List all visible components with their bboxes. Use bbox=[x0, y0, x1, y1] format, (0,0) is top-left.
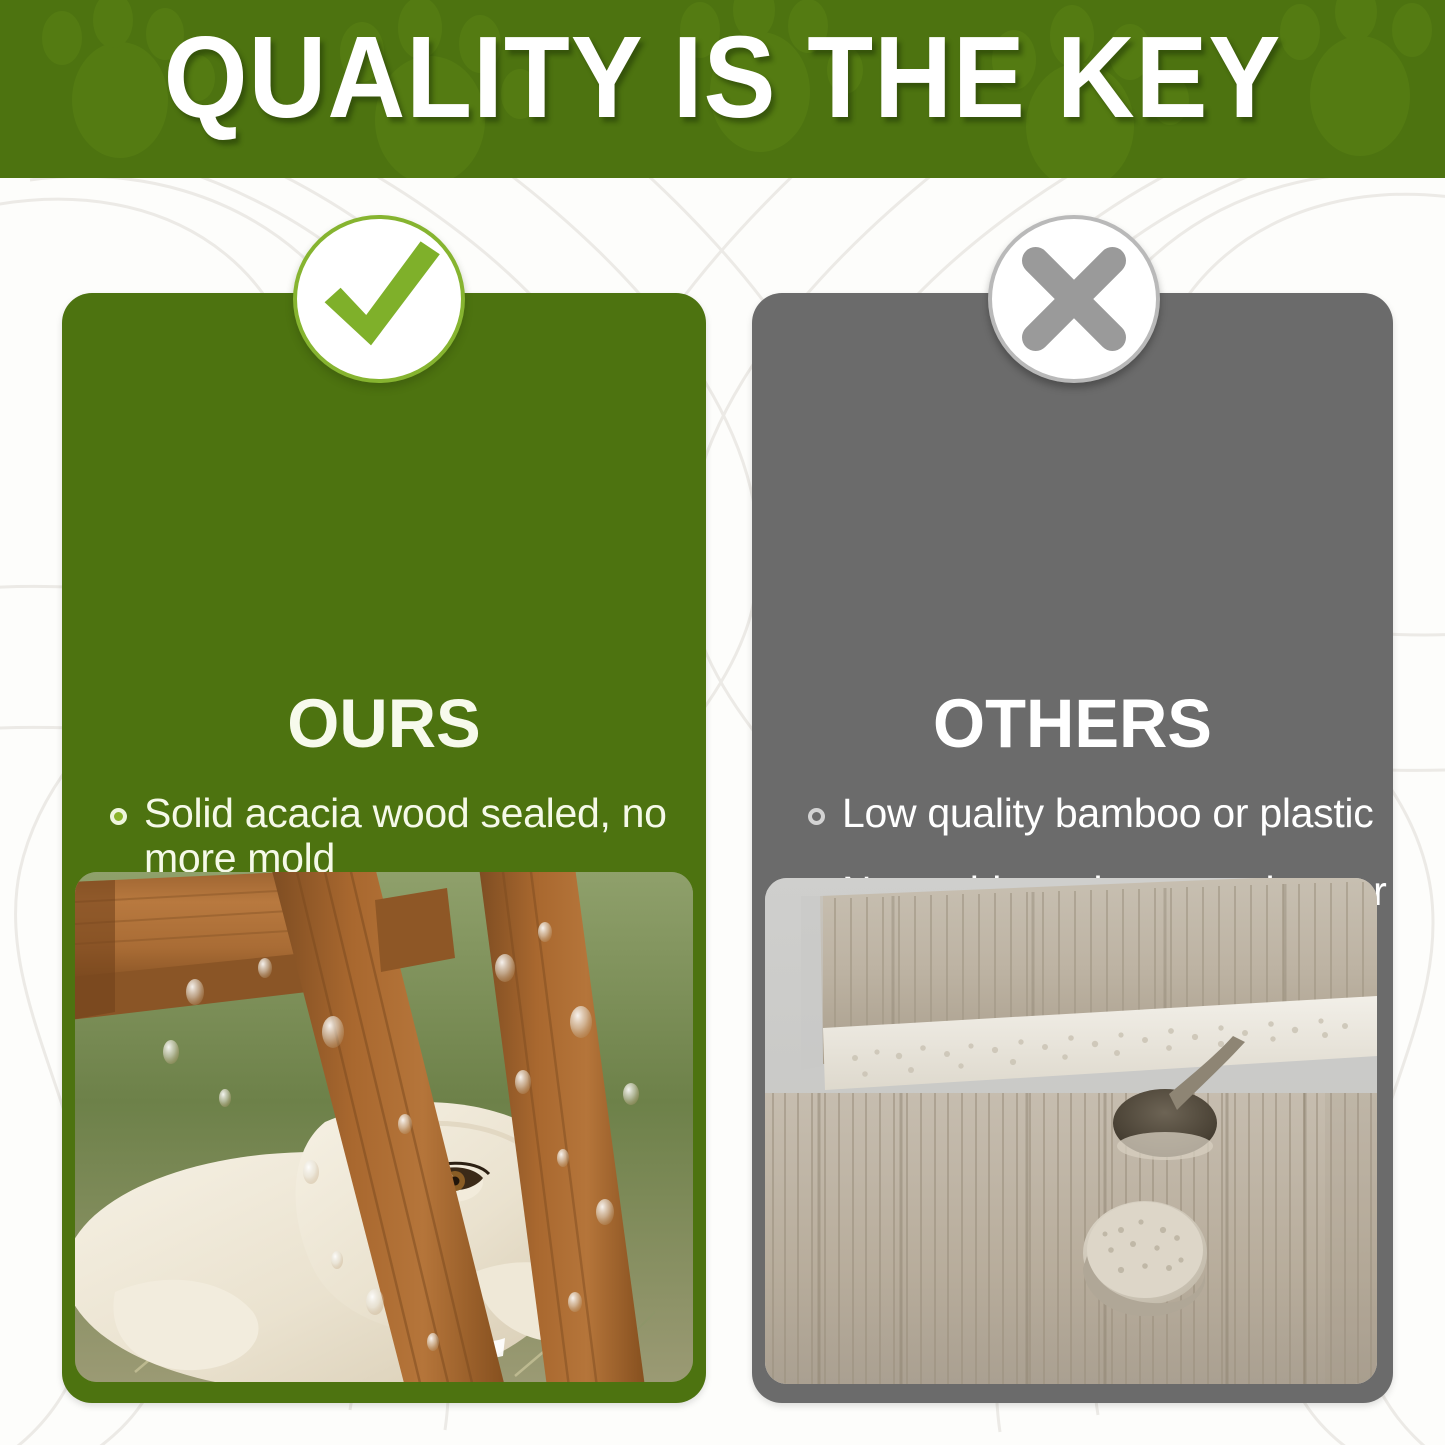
ours-product-photo bbox=[75, 872, 693, 1382]
cross-badge bbox=[988, 215, 1160, 383]
infographic-page: QUALITY IS THE KEY OURS Solid acacia woo… bbox=[0, 0, 1445, 1445]
bullet-dot-icon bbox=[808, 808, 825, 825]
header-banner: QUALITY IS THE KEY bbox=[0, 0, 1445, 178]
check-badge bbox=[293, 215, 465, 383]
list-item-label: Solid acacia wood sealed, no more mold bbox=[144, 791, 700, 881]
bamboo-board-image bbox=[765, 878, 1377, 1384]
list-item: Low quality bamboo or plastic bbox=[808, 791, 1388, 836]
cross-icon bbox=[992, 219, 1156, 379]
others-product-photo bbox=[765, 878, 1377, 1384]
others-heading: OTHERS bbox=[762, 689, 1384, 759]
check-icon bbox=[297, 219, 461, 379]
list-item: Solid acacia wood sealed, no more mold bbox=[110, 791, 700, 881]
bullet-dot-icon bbox=[110, 808, 127, 825]
ours-heading: OURS bbox=[72, 689, 697, 759]
list-item-label: Low quality bamboo or plastic bbox=[842, 791, 1373, 836]
page-title: QUALITY IS THE KEY bbox=[51, 16, 1395, 138]
acacia-bench-dog-image bbox=[75, 872, 693, 1382]
